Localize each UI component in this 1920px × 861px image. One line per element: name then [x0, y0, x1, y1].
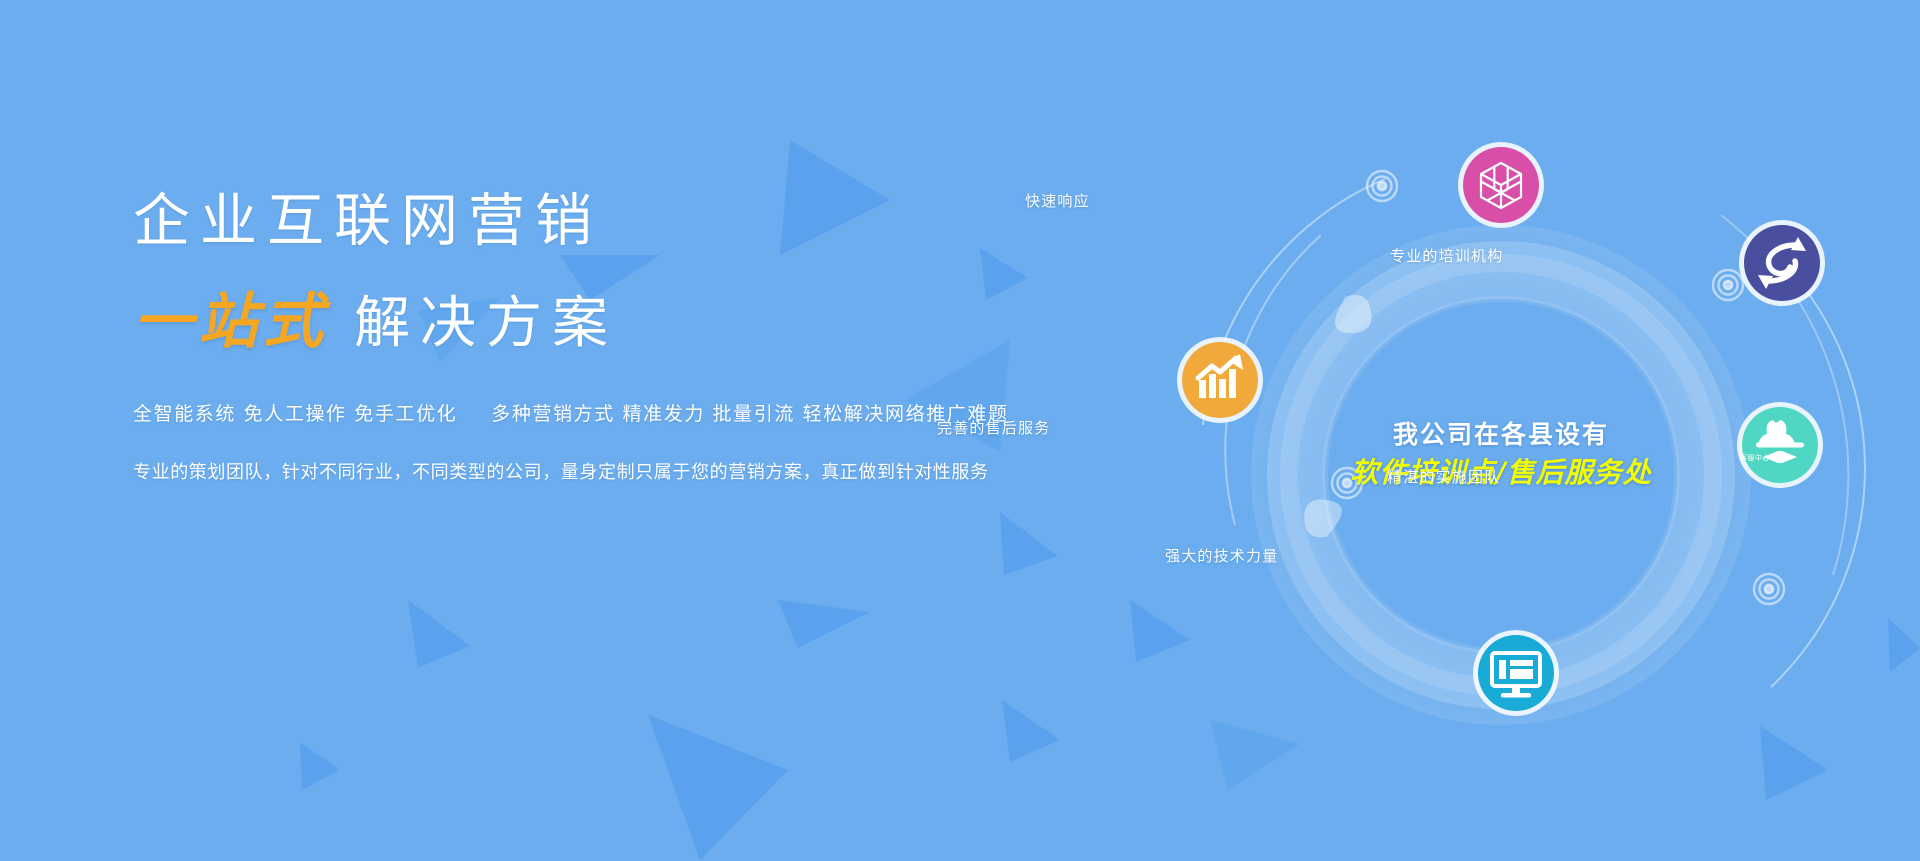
orbit-node-icons: [1085, 95, 1920, 795]
subline: 一站式解决方案: [133, 289, 1053, 355]
node-icon-monitor: [1473, 630, 1559, 716]
node-label-fast-response: 快速响应: [1025, 190, 1090, 211]
subline-highlight: 一站式: [133, 287, 328, 357]
feature-line-left: 全智能系统 免人工操作 免手工优化: [133, 403, 457, 425]
feature-line-right: 多种营销方式 精准发力 批量引流 轻松解决网络推广难题: [491, 403, 1008, 425]
feature-line: 全智能系统 免人工操作 免手工优化多种营销方式 精准发力 批量引流 轻松解决网络…: [133, 399, 1053, 426]
node-icon-s-arrow: [1739, 220, 1825, 306]
node-icon-cube: [1458, 142, 1544, 228]
orbit-graphic: 我公司在各县设有 软件培训点/售后服务处: [1085, 95, 1920, 795]
node-label-training-org: 专业的培训机构: [1390, 245, 1503, 266]
banner-stage: 企业互联网营销 一站式解决方案 全智能系统 免人工操作 免手工优化多种营销方式 …: [0, 0, 1920, 861]
node-label-after-sales: 完善的售后服务: [937, 417, 1050, 438]
node-icon-hat-bowtie: [1737, 402, 1823, 488]
description-line: 专业的策划团队，针对不同行业，不同类型的公司，量身定制只属于您的营销方案，真正做…: [133, 458, 1053, 484]
subline-rest: 解决方案: [354, 291, 618, 356]
node-icon-growth-chart: [1177, 337, 1263, 423]
copy-block: 企业互联网营销 一站式解决方案 全智能系统 免人工操作 免手工优化多种营销方式 …: [133, 190, 1053, 484]
badge-caption: 客服中心: [1740, 453, 1770, 463]
page-title: 企业互联网营销: [133, 190, 1053, 253]
node-label-tech-power: 强大的技术力量: [1165, 545, 1278, 566]
node-label-impl-team: 精湛的实施团队: [1387, 466, 1500, 487]
